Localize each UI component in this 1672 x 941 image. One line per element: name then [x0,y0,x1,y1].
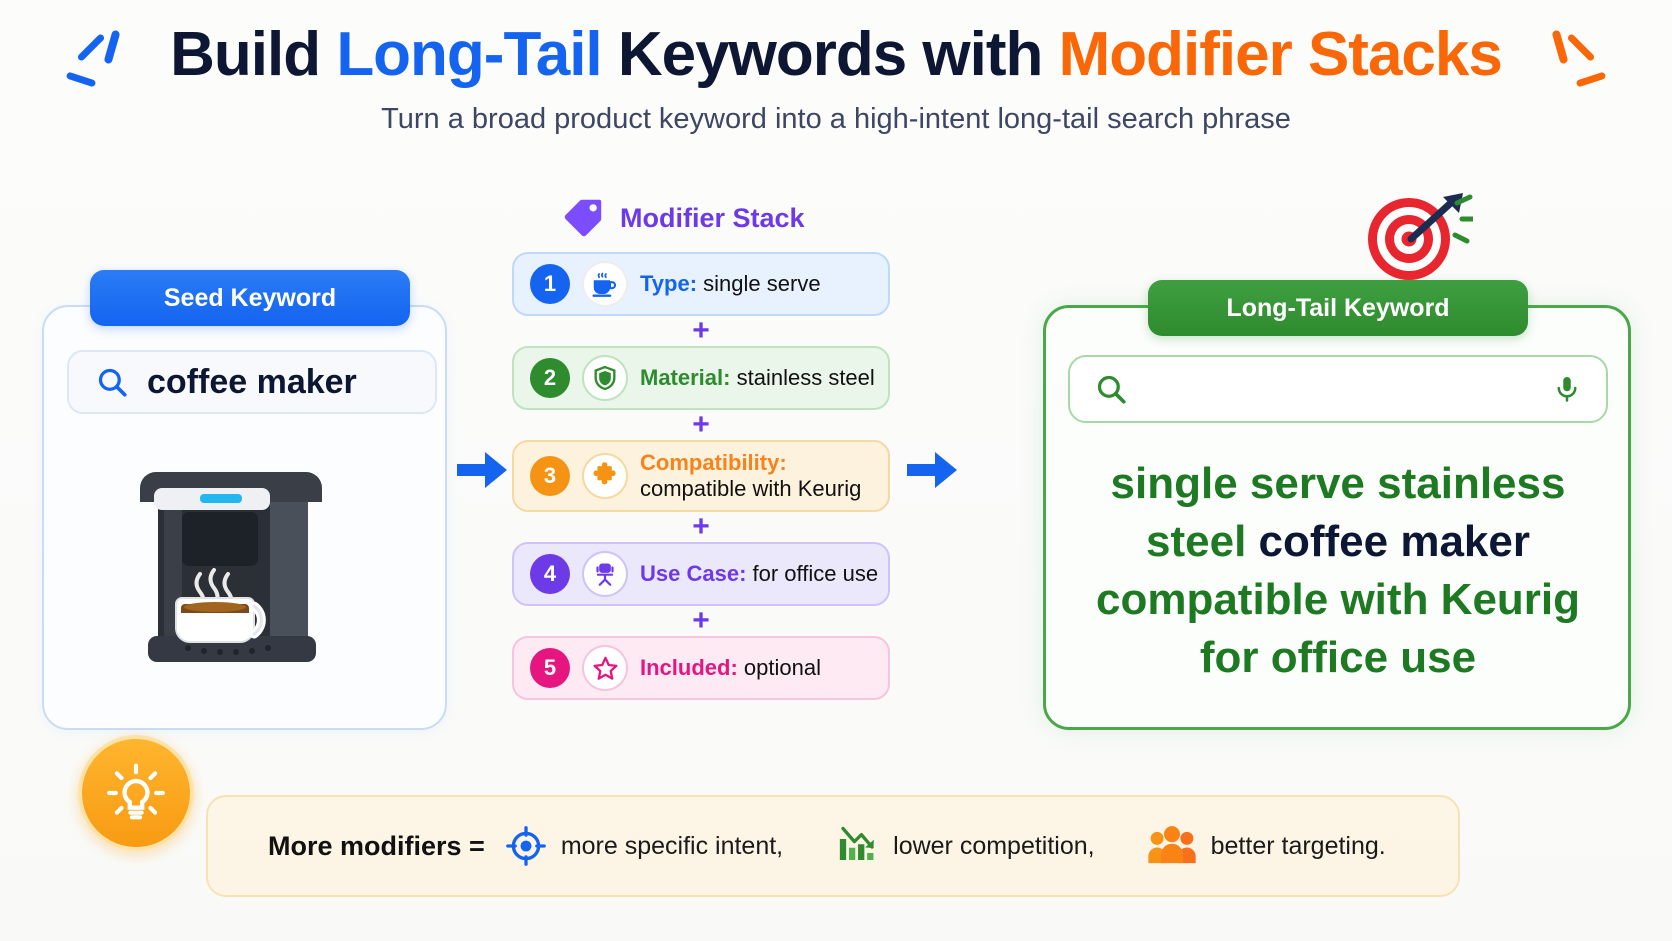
arrow-right-icon-right [905,448,959,492]
modifier-label: Included: [640,655,738,680]
modifier-number: 3 [530,456,570,496]
modifier-number: 2 [530,358,570,398]
search-icon [1094,372,1128,406]
plus-separator-1: + [512,316,890,346]
modifier-number: 5 [530,648,570,688]
coffee-cup-icon [582,261,628,307]
phrase-line-2: steel coffee maker [1060,513,1616,571]
seed-keyword-search-field[interactable]: coffee maker [67,350,437,414]
modifier-label: Compatibility: [640,450,787,475]
microphone-icon[interactable] [1552,374,1582,404]
phrase-line-4: for office use [1060,629,1616,687]
takeaway-text: more specific intent, [561,832,783,861]
plus-separator-2: + [512,410,890,440]
target-dart-icon [1363,185,1473,285]
modifier-label: Use Case: [640,561,746,586]
coffee-maker-illustration [130,440,360,680]
takeaway-item-intent: more specific intent, [505,825,783,867]
puzzle-icon [582,453,628,499]
takeaway-bar: More modifiers = more specific intent, l… [206,795,1460,897]
modifier-text: Included: optional [640,655,821,681]
modifier-value: for office use [753,561,879,586]
plus-separator-4: + [512,606,890,636]
target-crosshair-icon [505,825,547,867]
people-group-icon [1147,825,1197,867]
modifier-text: Use Case: for office use [640,561,878,587]
star-icon [582,645,628,691]
seed-keyword-badge: Seed Keyword [90,270,410,326]
infographic-canvas: Build Long-Tail Keywords with Modifier S… [0,0,1672,941]
title-part-1: Build [170,20,336,89]
modifier-value: stainless steel [737,365,875,390]
modifier-stack-header: Modifier Stack [560,195,805,241]
title-highlight-modifier-stacks: Modifier Stacks [1059,20,1502,89]
long-tail-keyword-phrase: single serve stainless steel coffee make… [1060,455,1616,687]
long-tail-search-field[interactable] [1068,355,1608,423]
modifier-row-material[interactable]: 2 Material: stainless steel [512,346,890,410]
modifier-row-use-case[interactable]: 4 Use Case: for office use [512,542,890,606]
takeaway-item-targeting: better targeting. [1147,825,1386,867]
phrase-line-1: single serve stainless [1060,455,1616,513]
title-part-2: Keywords with [602,20,1059,89]
modifier-text: Type: single serve [640,271,821,297]
modifier-row-type[interactable]: 1 Type: single serve [512,252,890,316]
modifier-row-compatibility[interactable]: 3 Compatibility: compatible with Keurig [512,440,890,512]
page-title: Build Long-Tail Keywords with Modifier S… [0,22,1672,87]
modifier-list: 1 Type: single serve + 2 [512,252,890,700]
search-icon [95,365,129,399]
phrase-line-2-seed: coffee maker [1259,517,1530,566]
modifier-label: Material: [640,365,730,390]
modifier-text: Material: stainless steel [640,365,875,391]
phrase-line-2-green: steel [1146,517,1259,566]
tag-icon [560,195,606,241]
phrase-line-3: compatible with Keurig [1060,571,1616,629]
shield-icon [582,355,628,401]
modifier-label: Type: [640,271,697,296]
takeaway-lead: More modifiers = [268,831,485,862]
modifier-text: Compatibility: compatible with Keurig [640,450,861,502]
header: Build Long-Tail Keywords with Modifier S… [0,22,1672,136]
arrow-right-icon-left [455,448,509,492]
page-subtitle: Turn a broad product keyword into a high… [0,103,1672,136]
modifier-row-included[interactable]: 5 Included: optional [512,636,890,700]
plus-separator-3: + [512,512,890,542]
lightbulb-icon [105,762,167,824]
office-chair-icon [582,551,628,597]
modifier-number: 4 [530,554,570,594]
declining-bar-chart-icon [835,825,879,867]
modifier-value: optional [744,655,821,680]
takeaway-text: lower competition, [893,832,1094,861]
takeaway-text: better targeting. [1211,832,1386,861]
takeaway-item-competition: lower competition, [835,825,1094,867]
modifier-number: 1 [530,264,570,304]
modifier-value: compatible with Keurig [640,476,861,502]
modifier-stack-label: Modifier Stack [620,203,805,234]
modifier-value: single serve [703,271,820,296]
seed-keyword-value: coffee maker [147,363,357,402]
title-highlight-long-tail: Long-Tail [336,20,601,89]
long-tail-keyword-badge: Long-Tail Keyword [1148,280,1528,336]
lightbulb-badge [78,735,194,851]
